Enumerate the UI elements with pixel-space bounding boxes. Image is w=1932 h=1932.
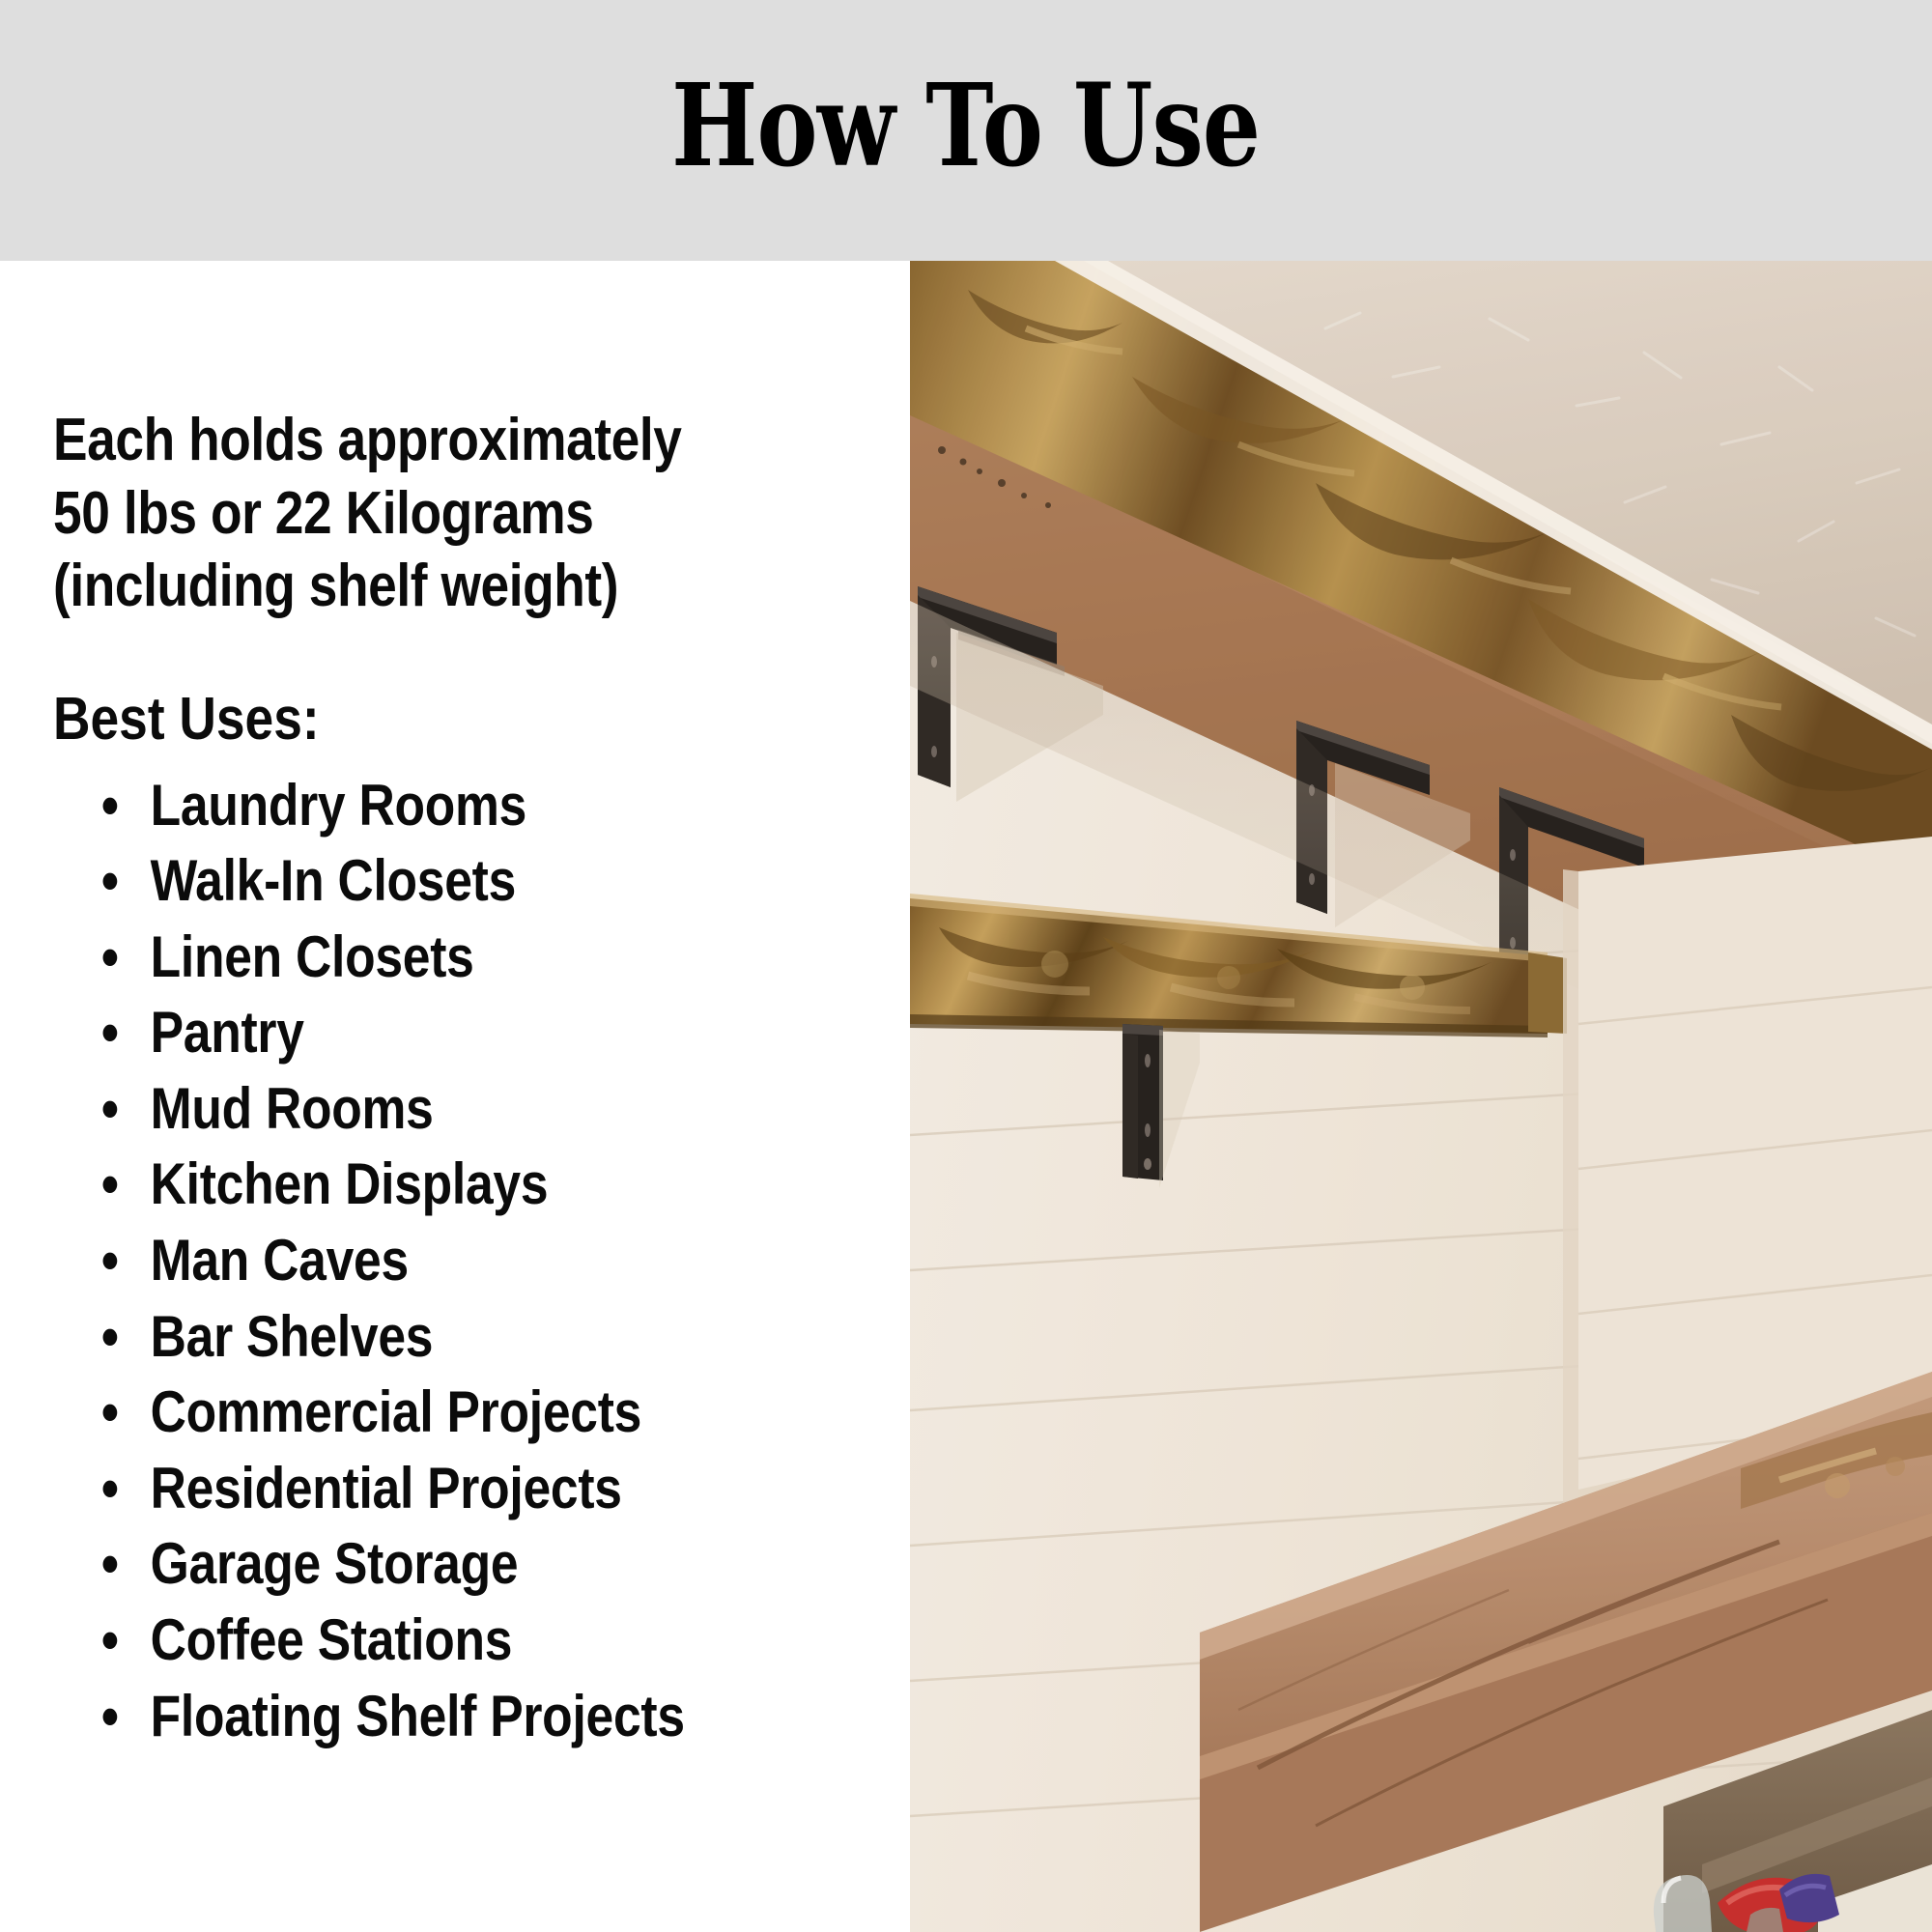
- capacity-line-2: 50 lbs or 22 Kilograms: [53, 477, 925, 551]
- list-item-label: Man Caves: [151, 1228, 409, 1293]
- bullet-icon: •: [101, 1375, 119, 1451]
- list-item-label: Laundry Rooms: [151, 773, 526, 838]
- list-item-label: Commercial Projects: [151, 1379, 641, 1444]
- list-item: •Floating Shelf Projects: [53, 1679, 925, 1755]
- bullet-icon: •: [101, 920, 119, 996]
- list-item: •Man Caves: [53, 1223, 925, 1299]
- list-item-label: Walk-In Closets: [151, 848, 516, 913]
- bullet-icon: •: [101, 1603, 119, 1679]
- list-item: •Coffee Stations: [53, 1603, 925, 1679]
- bullet-icon: •: [101, 843, 119, 920]
- list-item: •Garage Storage: [53, 1526, 925, 1603]
- shelf-photo: [910, 261, 1932, 1932]
- shelf-photo-illustration: [910, 261, 1932, 1932]
- header-band: How To Use: [0, 0, 1932, 261]
- list-item: •Commercial Projects: [53, 1375, 925, 1451]
- list-item-label: Bar Shelves: [151, 1304, 434, 1369]
- capacity-line-3: (including shelf weight): [53, 550, 925, 623]
- bullet-icon: •: [101, 1071, 119, 1148]
- list-item: •Mud Rooms: [53, 1071, 925, 1148]
- bullet-icon: •: [101, 768, 119, 844]
- list-item: •Linen Closets: [53, 920, 925, 996]
- list-item: •Laundry Rooms: [53, 768, 925, 844]
- list-item-label: Linen Closets: [151, 924, 474, 989]
- bullet-icon: •: [101, 1679, 119, 1755]
- list-item: •Kitchen Displays: [53, 1147, 925, 1223]
- list-item: •Walk-In Closets: [53, 843, 925, 920]
- best-uses-heading: Best Uses:: [53, 683, 925, 756]
- list-item: •Bar Shelves: [53, 1299, 925, 1376]
- bullet-icon: •: [101, 1147, 119, 1223]
- list-item-label: Residential Projects: [151, 1456, 622, 1520]
- list-item-label: Garage Storage: [151, 1531, 519, 1596]
- list-item-label: Coffee Stations: [151, 1607, 513, 1672]
- capacity-note: Each holds approximately 50 lbs or 22 Ki…: [53, 404, 925, 623]
- bullet-icon: •: [101, 1526, 119, 1603]
- list-item-label: Mud Rooms: [151, 1076, 434, 1141]
- bullet-icon: •: [101, 1451, 119, 1527]
- best-uses-list: •Laundry Rooms •Walk-In Closets •Linen C…: [53, 768, 925, 1755]
- page-title: How To Use: [671, 69, 1260, 192]
- list-item: •Residential Projects: [53, 1451, 925, 1527]
- how-to-use-infographic: How To Use Each holds approximately 50 l…: [0, 0, 1932, 1932]
- bullet-icon: •: [101, 995, 119, 1071]
- photo-warm-tone: [910, 261, 1932, 1932]
- list-item: •Pantry: [53, 995, 925, 1071]
- list-item-label: Pantry: [151, 1000, 304, 1065]
- bullet-icon: •: [101, 1299, 119, 1376]
- list-item-label: Kitchen Displays: [151, 1151, 549, 1216]
- bullet-icon: •: [101, 1223, 119, 1299]
- capacity-line-1: Each holds approximately: [53, 404, 925, 477]
- list-item-label: Floating Shelf Projects: [151, 1684, 685, 1748]
- left-text-column: Each holds approximately 50 lbs or 22 Ki…: [0, 261, 910, 1932]
